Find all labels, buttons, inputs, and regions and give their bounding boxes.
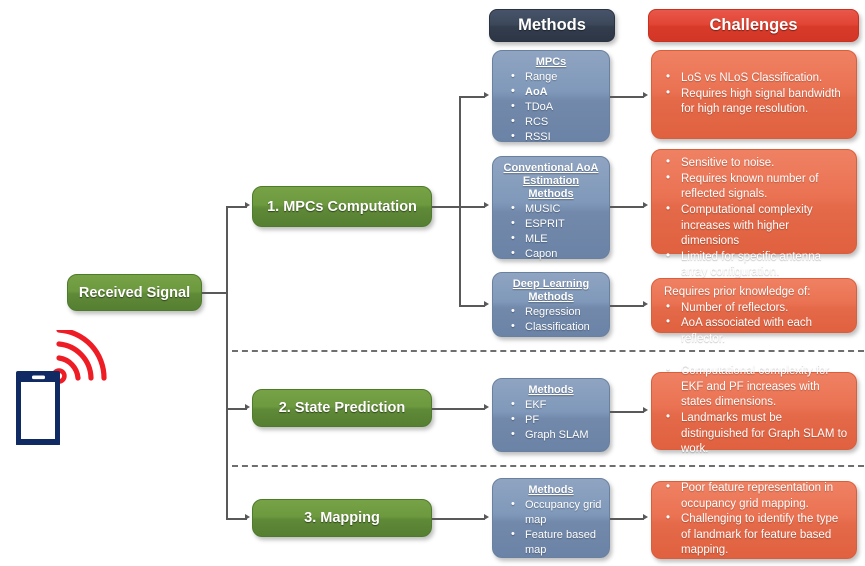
arrow-to-challenge-mpcs — [643, 92, 648, 98]
method-box-title: Deep Learning Methods — [499, 278, 603, 304]
connector-trunk-to-stage3 — [226, 518, 247, 520]
arrow-to-challenge-deep-learning — [643, 301, 648, 307]
method-box-state-prediction[interactable]: Methods EKF PF Graph SLAM — [492, 378, 610, 452]
connector-source-out — [202, 292, 227, 294]
challenge-box-mpcs[interactable]: LoS vs NLoS Classification. Requires hig… — [651, 50, 857, 139]
method-list-item: MLE — [511, 232, 603, 247]
method-list-item: MUSIC — [511, 202, 603, 217]
arrow-to-stage2 — [245, 404, 250, 410]
challenge-lead-text: Requires prior knowledge of: — [660, 285, 848, 301]
challenge-list: Poor feature representation in occupancy… — [660, 481, 848, 559]
connector-stage2-to-method — [432, 408, 485, 410]
stage-node-state-prediction[interactable]: 2. State Prediction — [252, 389, 432, 427]
method-list: EKF PF Graph SLAM — [499, 398, 603, 443]
challenge-list-item: LoS vs NLoS Classification. — [664, 71, 848, 87]
connector-trunk-to-stage2 — [226, 408, 247, 410]
connector-deep-learning-to-challenge — [610, 305, 644, 307]
connector-stage1-to-conventional-aoa — [459, 206, 485, 208]
connector-stage1-to-mpcs — [459, 96, 485, 98]
method-list-item: AoA — [511, 85, 603, 100]
received-signal-label: Received Signal — [79, 285, 190, 301]
section-divider-2 — [232, 465, 864, 467]
method-list-item: Occupancy grid map — [511, 498, 603, 528]
connector-conventional-aoa-to-challenge — [610, 206, 644, 208]
stage-label-mpcs-computation: 1. MPCs Computation — [267, 199, 417, 215]
stage-label-state-prediction: 2. State Prediction — [279, 400, 406, 416]
stage-node-mpcs-computation[interactable]: 1. MPCs Computation — [252, 186, 432, 227]
challenge-list-item: Computational complexity for EKF and PF … — [664, 364, 848, 411]
arrow-to-method-mpcs — [484, 92, 489, 98]
connector-state-prediction-to-challenge — [610, 411, 644, 413]
method-list: Occupancy grid map Feature based map — [499, 498, 603, 558]
smartphone-wifi-icon — [12, 330, 112, 445]
connector-stage3-to-method — [432, 518, 485, 520]
method-box-title: Methods — [499, 484, 603, 497]
challenge-list-item: Computational complexity increases with … — [664, 203, 848, 250]
method-list: MUSIC ESPRIT MLE Capon — [499, 202, 603, 262]
column-header-challenges-label: Challenges — [709, 16, 797, 35]
challenge-box-conventional-aoa[interactable]: Sensitive to noise. Requires known numbe… — [651, 149, 857, 254]
method-list-item: Capon — [511, 247, 603, 262]
connector-stage1-out — [432, 206, 460, 208]
method-box-title: Conventional AoA Estimation Methods — [499, 162, 603, 201]
method-list-item: Graph SLAM — [511, 428, 603, 443]
method-box-title: Methods — [499, 384, 603, 397]
challenge-box-state-prediction[interactable]: Computational complexity for EKF and PF … — [651, 372, 857, 450]
arrow-to-challenge-mapping — [643, 514, 648, 520]
column-header-methods: Methods — [489, 9, 615, 42]
stage-label-mapping: 3. Mapping — [304, 510, 380, 526]
arrow-to-challenge-conventional-aoa — [643, 202, 648, 208]
section-divider-1 — [232, 350, 864, 352]
arrow-to-challenge-state-prediction — [643, 407, 648, 413]
challenge-list-item: Requires high signal bandwidth for high … — [664, 87, 848, 118]
arrow-to-stage1 — [245, 202, 250, 208]
challenge-list-item: Sensitive to noise. — [664, 156, 848, 172]
challenge-list: Sensitive to noise. Requires known numbe… — [660, 156, 848, 281]
method-list-item: Regression — [511, 305, 603, 320]
method-list-item: PF — [511, 413, 603, 428]
challenge-list-item: Number of reflectors. — [664, 301, 848, 317]
arrow-to-method-mapping — [484, 514, 489, 520]
challenge-list: Number of reflectors. AoA associated wit… — [660, 301, 848, 348]
stage-node-mapping[interactable]: 3. Mapping — [252, 499, 432, 537]
challenge-list-item: Poor feature representation in occupancy… — [664, 481, 848, 512]
connector-stage1-bus — [459, 96, 461, 306]
method-box-mapping[interactable]: Methods Occupancy grid map Feature based… — [492, 478, 610, 558]
method-list-item: TDoA — [511, 100, 603, 115]
challenge-list-item: AoA associated with each reflector. — [664, 316, 848, 347]
challenge-list-item: Landmarks must be distinguished for Grap… — [664, 411, 848, 458]
flowchart-canvas: Methods Challenges Received Signal 1. MP… — [0, 0, 865, 566]
arrow-to-method-deep-learning — [484, 301, 489, 307]
column-header-challenges: Challenges — [648, 9, 859, 42]
method-box-mpcs[interactable]: MPCs Range AoA TDoA RCS RSSI — [492, 50, 610, 142]
challenge-list: LoS vs NLoS Classification. Requires hig… — [660, 71, 848, 118]
column-header-methods-label: Methods — [518, 16, 586, 35]
method-list-item: RSSI — [511, 130, 603, 145]
arrow-to-method-state-prediction — [484, 404, 489, 410]
connector-trunk-to-stage1 — [226, 206, 247, 208]
arrow-to-method-conventional-aoa — [484, 202, 489, 208]
connector-mapping-to-challenge — [610, 518, 644, 520]
connector-mpcs-to-challenge — [610, 96, 644, 98]
method-box-title: MPCs — [499, 56, 603, 69]
method-list: Range AoA TDoA RCS RSSI — [499, 70, 603, 145]
method-list-item: Classification — [511, 320, 603, 335]
smartphone-wifi-svg — [12, 330, 112, 445]
challenge-list: Computational complexity for EKF and PF … — [660, 364, 848, 458]
connector-main-trunk — [226, 206, 228, 519]
challenge-list-item: Challenging to identify the type of land… — [664, 512, 848, 559]
method-list-item: Range — [511, 70, 603, 85]
method-list: Regression Classification — [499, 305, 603, 335]
arrow-to-stage3 — [245, 514, 250, 520]
method-list-item: EKF — [511, 398, 603, 413]
challenge-box-deep-learning[interactable]: Requires prior knowledge of: Number of r… — [651, 278, 857, 333]
method-box-conventional-aoa[interactable]: Conventional AoA Estimation Methods MUSI… — [492, 156, 610, 259]
method-list-item: RCS — [511, 115, 603, 130]
method-box-deep-learning[interactable]: Deep Learning Methods Regression Classif… — [492, 272, 610, 337]
method-list-item: Feature based map — [511, 528, 603, 558]
method-list-item: ESPRIT — [511, 217, 603, 232]
received-signal-node[interactable]: Received Signal — [67, 274, 202, 311]
challenge-list-item: Requires known number of reflected signa… — [664, 172, 848, 203]
challenge-list-item: Limited for specific antenna array confi… — [664, 250, 848, 281]
connector-stage1-to-deep-learning — [459, 305, 485, 307]
challenge-box-mapping[interactable]: Poor feature representation in occupancy… — [651, 481, 857, 559]
